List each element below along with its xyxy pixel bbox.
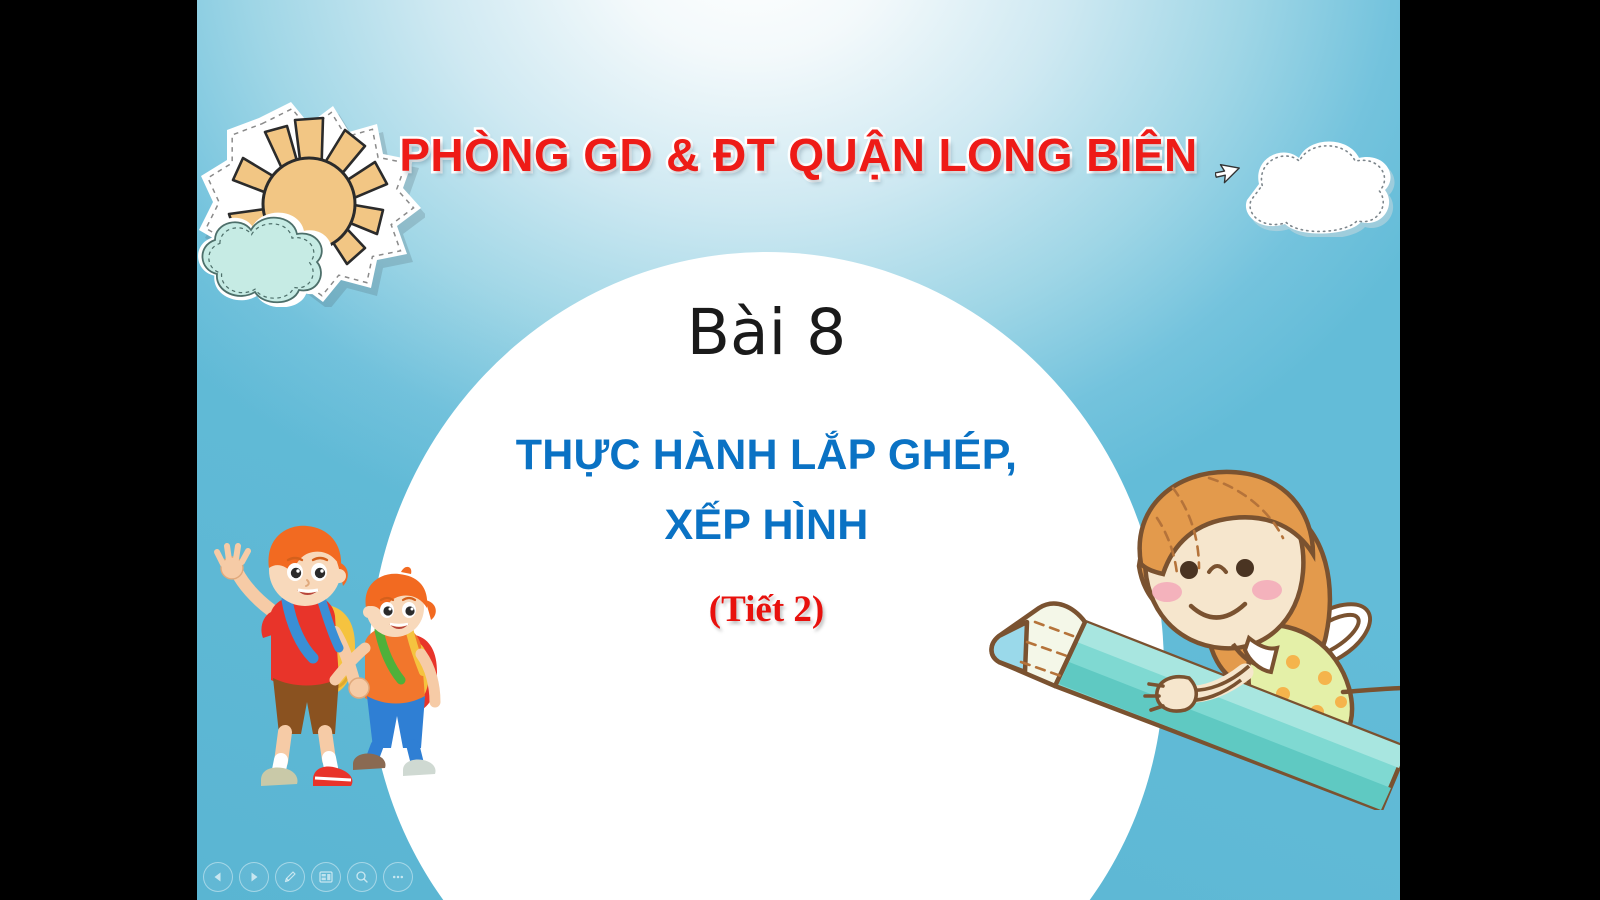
pen-tool-button[interactable]	[275, 862, 305, 892]
previous-slide-button[interactable]	[203, 862, 233, 892]
zoom-button[interactable]	[347, 862, 377, 892]
fairy-on-pencil-illustration	[977, 440, 1400, 810]
magnifier-icon	[354, 869, 370, 885]
more-options-button[interactable]	[383, 862, 413, 892]
mouse-cursor-icon	[1215, 158, 1249, 192]
presentation-stage: PHÒNG GD & ĐT QUẬN LONG BIÊN Bài 8 THỰC …	[0, 0, 1600, 900]
lesson-number: Bài 8	[369, 300, 1164, 366]
grid-icon	[318, 869, 334, 885]
ellipsis-icon	[390, 869, 406, 885]
triangle-left-icon	[211, 870, 225, 884]
next-slide-button[interactable]	[239, 862, 269, 892]
presenter-toolbar[interactable]	[203, 860, 413, 894]
pen-icon	[282, 869, 298, 885]
slide-canvas[interactable]: PHÒNG GD & ĐT QUẬN LONG BIÊN Bài 8 THỰC …	[197, 0, 1400, 900]
slide-view-button[interactable]	[311, 862, 341, 892]
boy-older	[217, 526, 355, 786]
letterbox-left	[0, 0, 197, 900]
letterbox-right	[1400, 0, 1600, 900]
kids-walking-illustration	[209, 512, 471, 794]
triangle-right-icon	[247, 870, 261, 884]
